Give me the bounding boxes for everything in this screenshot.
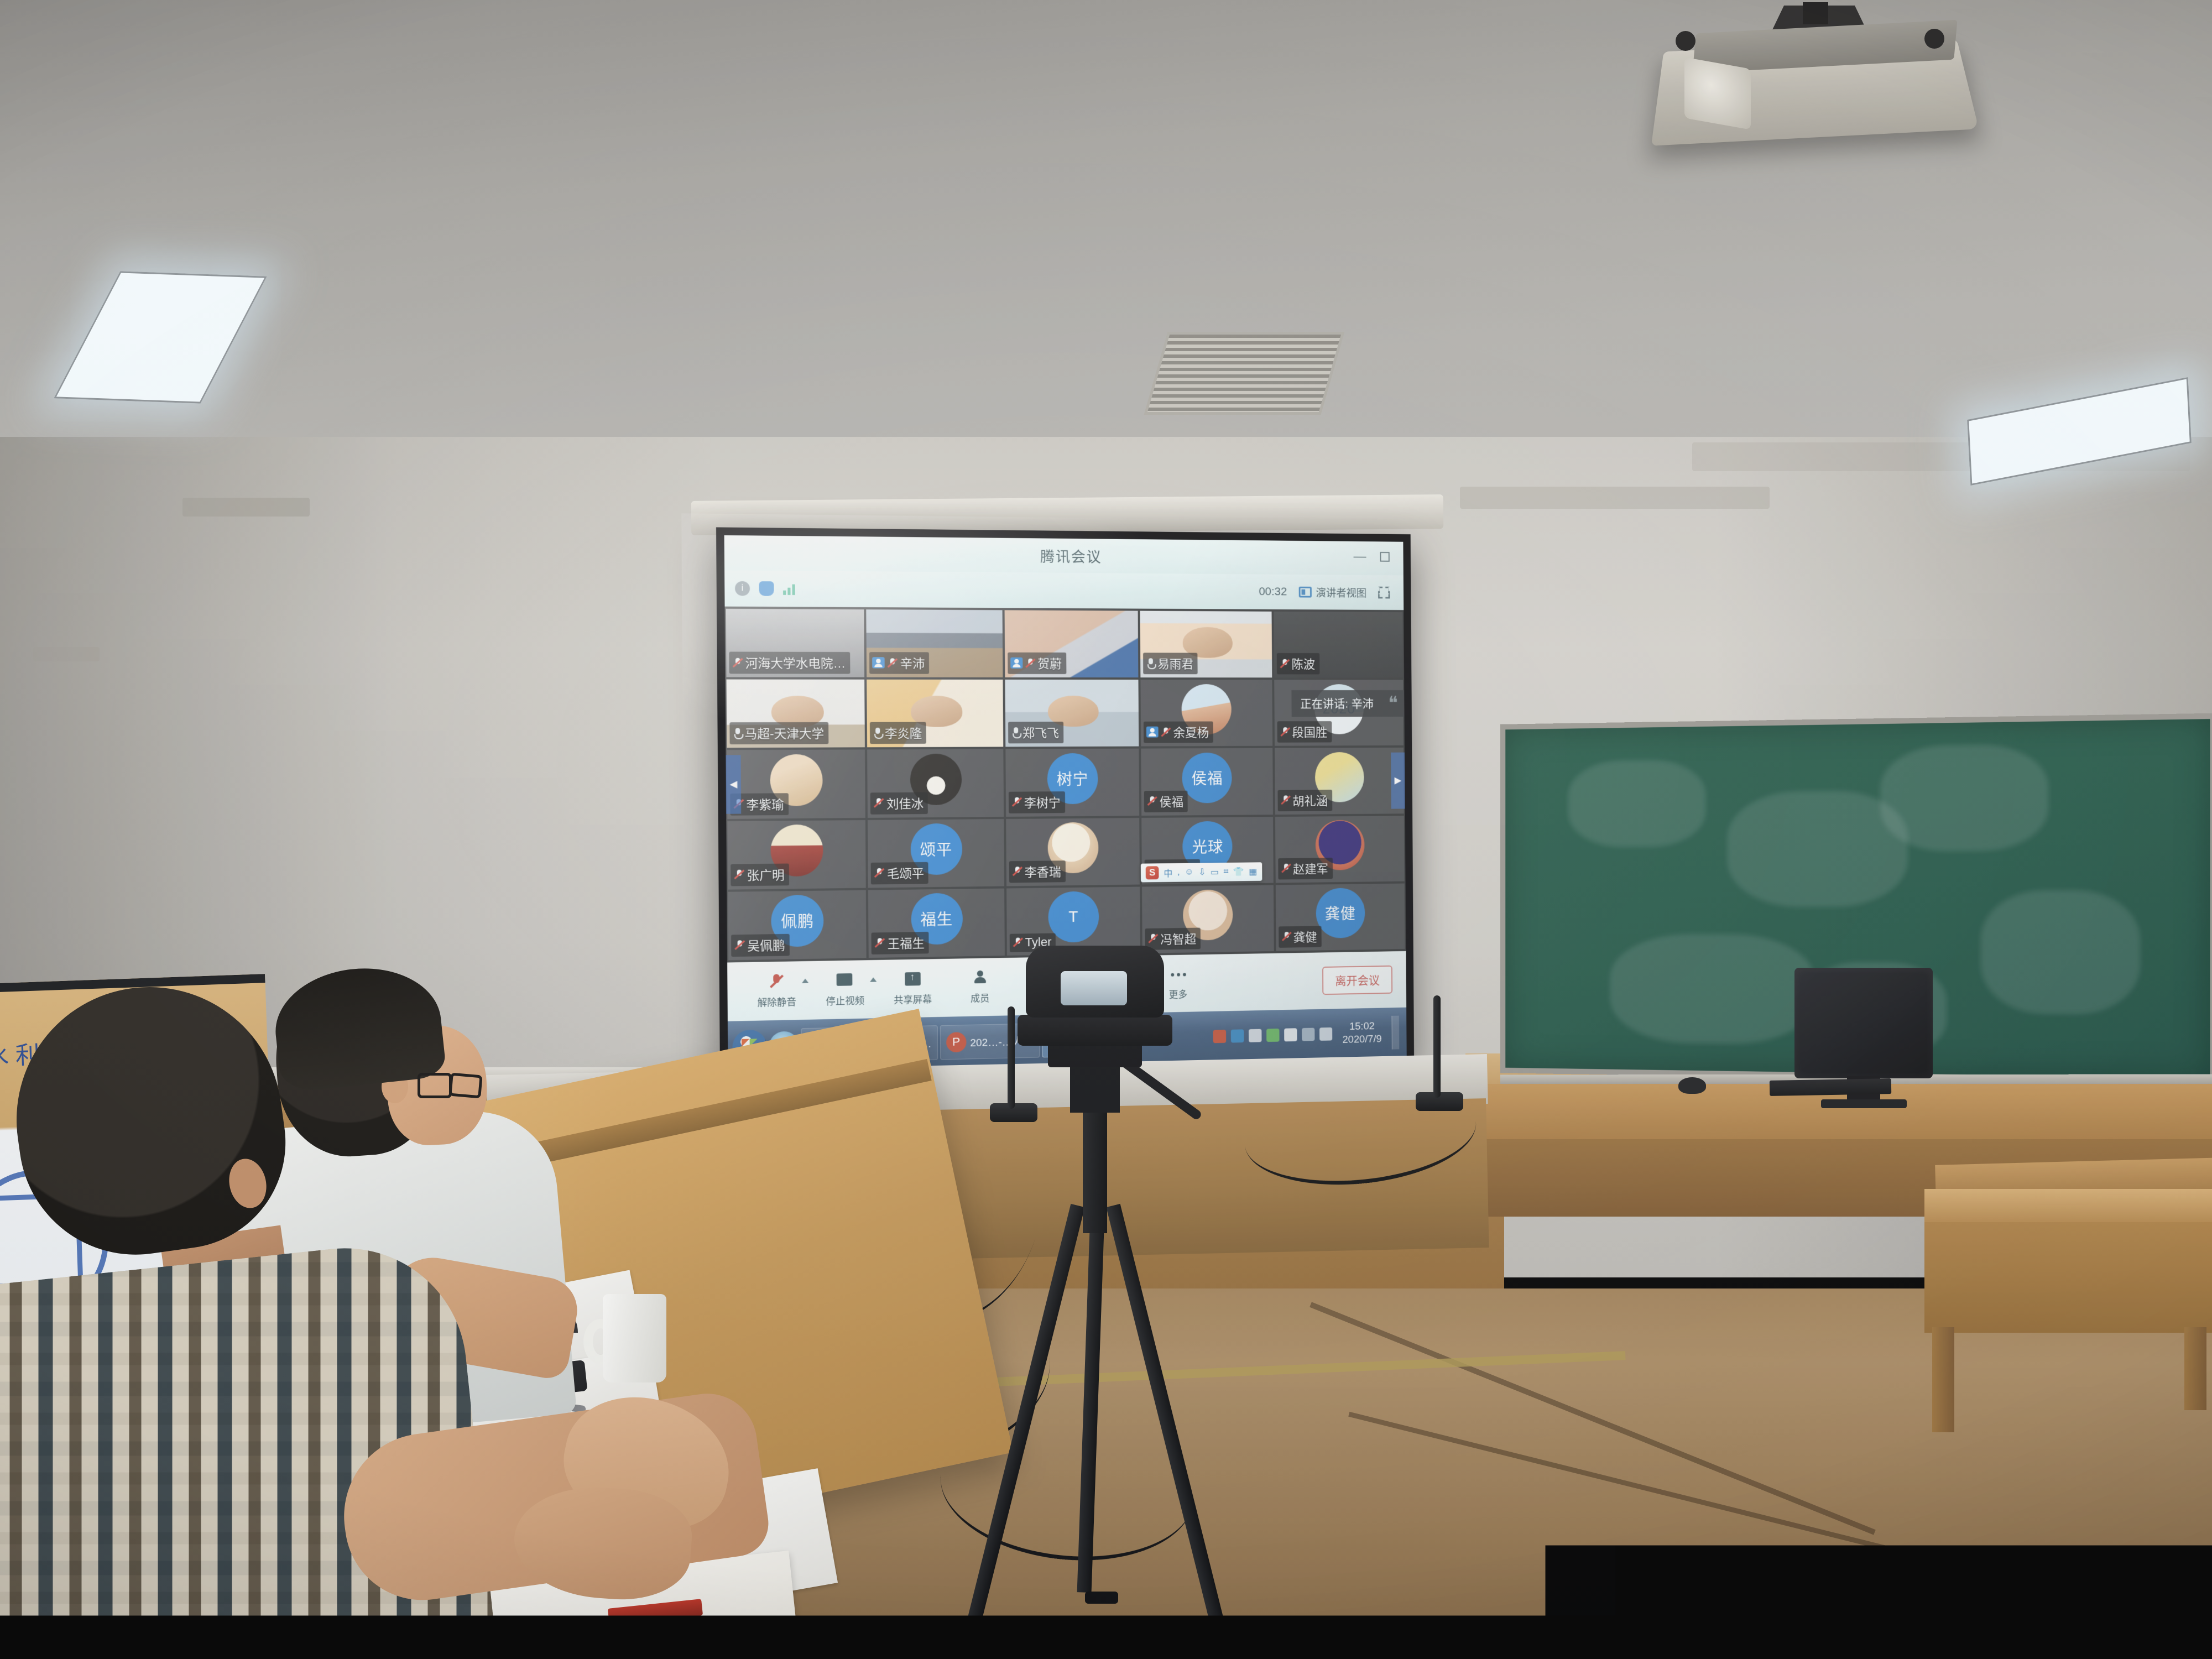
app-title: 腾讯会议 — [1040, 545, 1102, 566]
signal-icon[interactable] — [783, 582, 795, 595]
maximize-icon[interactable] — [1380, 552, 1389, 562]
speaker-view-icon — [1299, 587, 1312, 598]
side-desk-leg — [1932, 1327, 1954, 1432]
control-share-screen[interactable]: 共享屏幕 — [879, 971, 946, 1006]
camera-mount-plate — [1048, 1043, 1142, 1067]
sogou-ime-toolbar[interactable]: S 中 , ☺ ⇩ ▭ ⌗ 👕 ▦ — [1141, 862, 1262, 882]
mic-muted-icon — [733, 869, 744, 880]
mic-muted-icon — [1281, 931, 1292, 942]
mic-muted-icon — [874, 868, 885, 878]
grid-prev-page-button[interactable]: ◀ — [726, 755, 741, 813]
participant-tile[interactable]: 佩鹏吴佩鹏 — [728, 890, 867, 960]
participant-name: 辛沛 — [900, 654, 925, 671]
participant-name-badge: 贺蔚 — [1008, 653, 1066, 674]
leave-meeting-button[interactable]: 离开会议 — [1322, 966, 1392, 995]
mic-muted-icon — [1279, 658, 1290, 669]
projector-knob — [1924, 29, 1944, 49]
mic-on-icon — [1011, 727, 1020, 738]
participant-tile[interactable]: 冯智超 — [1142, 885, 1274, 953]
projector-lens — [1684, 57, 1751, 129]
participant-avatar: 侯福 — [1182, 753, 1233, 804]
wall-patch — [33, 647, 100, 661]
ceiling-vent-icon — [1144, 332, 1344, 415]
coffee-mug — [603, 1294, 666, 1383]
clock-date: 2020/7/9 — [1343, 1033, 1382, 1047]
participant-name: 刘佳冰 — [886, 794, 924, 812]
mic-muted-icon — [1148, 933, 1159, 944]
participant-name-badge: 易雨君 — [1143, 653, 1198, 674]
participant-name-badge: 辛沛 — [869, 652, 929, 674]
participant-name-badge: 李树宁 — [1009, 791, 1065, 813]
mic-muted-icon — [734, 940, 745, 951]
wall-patch — [182, 498, 310, 517]
participant-name: 马超-天津大学 — [744, 724, 824, 742]
participant-name: 易雨君 — [1157, 655, 1193, 672]
skin-icon[interactable]: 👕 — [1233, 867, 1244, 878]
mic-muted-icon — [1025, 658, 1035, 668]
app-subbar: i 00:32 演讲者视图 — [724, 570, 1404, 610]
participant-tile[interactable]: 李炎隆 — [867, 680, 1003, 748]
participant-name-badge: 河海大学水电院… — [729, 652, 850, 674]
control-mute-mic[interactable]: 解除静音 — [742, 973, 811, 1009]
control-label: 共享屏幕 — [894, 992, 932, 1006]
gooseneck-mic-right — [1433, 995, 1441, 1098]
meeting-timer: 00:32 — [1259, 585, 1287, 598]
participant-name: 李香瑞 — [1025, 862, 1061, 880]
participant-tile[interactable]: 陈波 — [1274, 612, 1403, 678]
side-desk-near — [1924, 1189, 2212, 1371]
taskbar-clock[interactable]: 15:02 2020/7/9 — [1337, 1020, 1387, 1047]
participant-name: 余夏杨 — [1173, 723, 1209, 741]
mic-muted-icon — [1012, 866, 1022, 877]
fullscreen-icon[interactable] — [1378, 587, 1390, 599]
video-off-icon — [873, 657, 885, 668]
participant-name-badge: 李香瑞 — [1009, 860, 1066, 883]
participant-name-badge: 龚健 — [1279, 926, 1322, 948]
emoji-icon[interactable]: ☺ — [1185, 868, 1193, 878]
minimize-icon[interactable]: — — [1353, 550, 1366, 564]
info-icon[interactable]: i — [735, 581, 750, 596]
participant-name: 段国胜 — [1292, 723, 1327, 740]
eyeglasses — [418, 1073, 484, 1094]
participant-tile[interactable]: 树宁李树宁 — [1005, 749, 1139, 817]
mic-muted-icon — [873, 797, 884, 808]
participant-tile[interactable]: 胡礼涵 — [1275, 748, 1404, 815]
participant-name: 李紫瑜 — [746, 795, 784, 813]
participant-name-badge: 毛颂平 — [871, 862, 928, 885]
computer-mouse — [1678, 1077, 1706, 1094]
participant-tile[interactable]: 张广明 — [727, 820, 866, 890]
active-speaker-text: 正在讲话: 辛沛 — [1300, 698, 1374, 711]
participant-name: 赵建军 — [1293, 859, 1328, 877]
participant-name: 贺蔚 — [1037, 654, 1062, 672]
show-desktop-button[interactable] — [1391, 1016, 1399, 1050]
participant-tile[interactable]: 郑飞飞 — [1005, 680, 1139, 747]
wall-patch — [1460, 487, 1770, 509]
ime-mode-label[interactable]: 中 — [1164, 866, 1172, 879]
mic-muted-icon — [874, 938, 885, 949]
projector-knob — [1676, 31, 1695, 51]
participant-name: 李树宁 — [1024, 793, 1061, 811]
active-speaker-tooltip: 正在讲话: 辛沛 ❝ — [1292, 690, 1405, 717]
tripod-leg — [965, 1204, 1084, 1631]
mic-muted-icon — [887, 658, 898, 668]
participant-name: 冯智超 — [1160, 930, 1196, 948]
network-icon[interactable] — [1302, 1028, 1314, 1041]
control-label: 停止视频 — [826, 993, 864, 1008]
keyboard — [1770, 1078, 1891, 1096]
participant-name: 郑飞飞 — [1022, 723, 1059, 741]
control-stop-video[interactable]: 停止视频 — [811, 972, 879, 1008]
participant-name: 吴佩鹏 — [747, 936, 785, 954]
participant-tile[interactable]: 贺蔚 — [1004, 610, 1138, 677]
mic-muted-icon — [1281, 863, 1291, 874]
clock-time: 15:02 — [1342, 1020, 1381, 1034]
app-titlebar: 腾讯会议 — — [724, 535, 1404, 576]
side-desk-front — [1924, 1222, 2212, 1333]
stop-video-icon — [834, 972, 855, 990]
quote-mark-icon: ❝ — [1388, 692, 1398, 714]
participant-name-badge: 侯福 — [1144, 790, 1188, 812]
participant-name: 张广明 — [747, 865, 785, 883]
tripod-foot — [962, 1630, 995, 1642]
conference-room-scene: 腾讯会议 — i 00:32 演讲 — [0, 0, 2212, 1659]
participant-name-badge: 余夏杨 — [1144, 722, 1213, 743]
participant-name-badge: 王福生 — [872, 932, 929, 954]
video-off-icon — [1010, 658, 1022, 669]
monitor-base — [1821, 1099, 1907, 1108]
monitor-screen-back — [1794, 968, 1933, 1078]
projector-arm — [1803, 2, 1828, 24]
mic-muted-icon — [1147, 796, 1157, 806]
participant-name-badge: 张广明 — [731, 863, 789, 886]
subbar-right: 00:32 演讲者视图 — [1259, 585, 1394, 600]
camera-lens — [1061, 971, 1127, 1005]
camera-base — [1018, 1015, 1172, 1046]
participant-tile[interactable]: 赵建军 — [1275, 816, 1405, 883]
participant-name-badge: 马超-天津大学 — [729, 722, 828, 744]
share-screen-icon-glyph — [905, 972, 921, 986]
participant-name: 侯福 — [1160, 792, 1184, 810]
window-controls: — — [1353, 550, 1389, 564]
tripod-foot — [1200, 1630, 1233, 1642]
apps-icon[interactable]: ▦ — [1249, 866, 1257, 877]
participant-avatar: T — [1048, 891, 1099, 943]
participant-name-badge: 赵建军 — [1278, 858, 1333, 880]
desktop-monitor — [1794, 968, 1933, 1078]
participant-name: 胡礼涵 — [1292, 791, 1328, 809]
cloud-icon[interactable] — [1249, 1029, 1262, 1042]
screenshot-icon[interactable]: ▭ — [1211, 867, 1219, 878]
participant-name: 陈波 — [1292, 655, 1316, 672]
video-off-icon — [1146, 727, 1159, 738]
tripod-foot — [1085, 1592, 1118, 1604]
mic-on-icon — [1146, 658, 1155, 669]
voice-icon[interactable]: ⇩ — [1198, 867, 1206, 878]
participant-name: 河海大学水电院… — [745, 654, 846, 672]
mic-on-icon — [733, 728, 743, 738]
participant-tile[interactable]: 马超-天津大学 — [727, 680, 865, 748]
participant-tile[interactable]: 颂平毛颂平 — [868, 819, 1004, 888]
mic-muted-icon — [732, 657, 743, 667]
participant-name-badge: 郑飞飞 — [1008, 722, 1063, 743]
participant-name-badge: 段国胜 — [1277, 721, 1332, 743]
battery-icon[interactable] — [1284, 1028, 1297, 1041]
mic-muted-icon — [1161, 727, 1171, 737]
mic-muted-icon — [1280, 795, 1291, 805]
participant-name-badge: 胡礼涵 — [1277, 790, 1332, 811]
chevron-up-icon[interactable] — [870, 977, 877, 982]
toolbox-icon[interactable]: ⌗ — [1224, 867, 1229, 877]
participant-tile[interactable]: 李香瑞 — [1006, 818, 1140, 886]
participant-name-badge: 李炎隆 — [870, 722, 926, 744]
participant-tile[interactable]: 侯福侯福 — [1141, 748, 1272, 816]
participant-tile[interactable]: 刘佳冰 — [867, 749, 1003, 818]
participant-tile[interactable]: 余夏杨 — [1141, 680, 1272, 747]
volume-icon[interactable] — [1319, 1027, 1332, 1041]
side-desk-leg — [2184, 1327, 2206, 1410]
participant-name-badge: 陈波 — [1276, 653, 1319, 675]
sogou-logo-icon: S — [1146, 866, 1159, 879]
participant-tile[interactable]: 辛沛 — [867, 609, 1003, 677]
participant-tile[interactable]: 河海大学水电院… — [726, 609, 865, 677]
tripod-column — [1083, 1106, 1107, 1233]
speaker-view-label: 演讲者视图 — [1316, 585, 1367, 599]
participant-tile[interactable]: 易雨君 — [1140, 611, 1272, 678]
participant-name-badge: 刘佳冰 — [870, 792, 928, 814]
tripod-head — [1070, 1063, 1120, 1113]
chevron-up-icon[interactable] — [802, 979, 808, 983]
tripod-leg — [1106, 1204, 1225, 1631]
mic-muted-icon — [1011, 797, 1022, 807]
participant-name-badge: 吴佩鹏 — [731, 934, 790, 957]
participant-name: 毛颂平 — [887, 864, 924, 882]
stop-video-icon-glyph — [837, 973, 853, 986]
mic-on-icon — [873, 728, 882, 738]
side-desk-top — [1924, 1189, 2212, 1225]
security-icon[interactable] — [1266, 1029, 1279, 1042]
share-screen-icon — [902, 971, 924, 989]
participant-tile[interactable]: 李紫瑜 — [727, 750, 865, 819]
participant-avatar: 龚健 — [1316, 888, 1365, 938]
grid-next-page-button[interactable]: ▶ — [1391, 753, 1405, 809]
tripod-leg — [1077, 1206, 1105, 1593]
participant-tile[interactable]: 龚健龚健 — [1275, 883, 1405, 951]
meeting-status-icons: i — [735, 581, 795, 596]
participant-grid: ◀ ▶ 正在讲话: 辛沛 ❝ S 中 , ☺ ⇩ ▭ ⌗ 👕 ▦ 河海大学水电 — [725, 607, 1406, 963]
participant-name: 李炎隆 — [885, 724, 922, 742]
participant-name: 龚健 — [1293, 927, 1317, 945]
mic-muted-icon — [1280, 727, 1290, 737]
mute-mic-icon — [766, 973, 788, 992]
ceiling-projector — [1637, 6, 1980, 144]
control-label: 解除静音 — [758, 994, 796, 1009]
camera-tripod — [940, 946, 1250, 1642]
punctuation-icon[interactable]: , — [1177, 868, 1180, 878]
shield-icon[interactable] — [759, 581, 774, 596]
participant-name: 王福生 — [888, 933, 925, 952]
speaker-view-button[interactable]: 演讲者视图 — [1299, 585, 1367, 599]
